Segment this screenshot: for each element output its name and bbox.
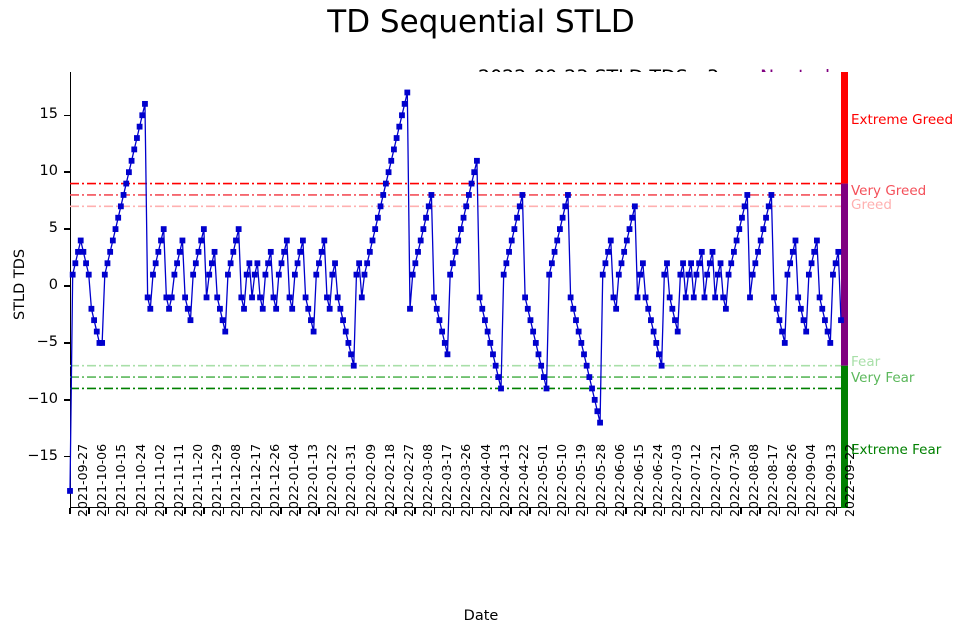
y-tick-mark bbox=[64, 285, 70, 286]
x-tick-label: 2022-05-01 bbox=[535, 444, 550, 517]
x-tick-mark bbox=[165, 508, 166, 514]
zone-label-greed: Greed bbox=[851, 197, 892, 213]
x-tick-label: 2022-04-04 bbox=[478, 444, 493, 517]
x-tick-label: 2022-05-28 bbox=[593, 444, 608, 517]
x-tick-mark bbox=[434, 508, 435, 514]
x-tick-label: 2022-01-31 bbox=[343, 444, 358, 517]
x-tick-label: 2022-01-13 bbox=[305, 444, 320, 517]
x-tick-mark bbox=[549, 508, 550, 514]
x-tick-label: 2021-11-29 bbox=[209, 444, 224, 517]
x-tick-label: 2021-12-08 bbox=[228, 444, 243, 517]
y-tick-label: −15 bbox=[12, 448, 58, 464]
x-tick-mark bbox=[280, 508, 281, 514]
x-tick-mark bbox=[664, 508, 665, 514]
y-tick-label: 0 bbox=[12, 277, 58, 293]
x-tick-label: 2022-06-15 bbox=[631, 444, 646, 517]
x-tick-label: 2022-05-10 bbox=[554, 444, 569, 517]
x-tick-label: 2021-10-24 bbox=[133, 444, 148, 517]
x-tick-mark bbox=[108, 508, 109, 514]
x-tick-mark bbox=[721, 508, 722, 514]
x-tick-label: 2022-02-27 bbox=[401, 444, 416, 517]
x-tick-mark bbox=[395, 508, 396, 514]
y-tick-label: −10 bbox=[12, 391, 58, 407]
x-tick-label: 2022-09-13 bbox=[823, 444, 838, 517]
x-tick-mark bbox=[510, 508, 511, 514]
x-tick-label: 2022-02-18 bbox=[382, 444, 397, 517]
zone-label-fear: Fear bbox=[851, 354, 880, 370]
x-tick-mark bbox=[223, 508, 224, 514]
x-tick-label: 2022-07-21 bbox=[708, 444, 723, 517]
chart-title: TD Sequential STLD bbox=[0, 4, 962, 40]
x-tick-label: 2022-07-30 bbox=[727, 444, 742, 517]
x-tick-mark bbox=[625, 508, 626, 514]
y-tick-mark bbox=[64, 171, 70, 172]
y-tick-mark bbox=[64, 456, 70, 457]
x-tick-mark bbox=[376, 508, 377, 514]
x-tick-mark bbox=[203, 508, 204, 514]
x-tick-label: 2022-02-09 bbox=[363, 444, 378, 517]
x-tick-mark bbox=[798, 508, 799, 514]
x-tick-label: 2022-03-08 bbox=[420, 444, 435, 517]
x-tick-mark bbox=[88, 508, 89, 514]
x-tick-mark bbox=[299, 508, 300, 514]
x-tick-label: 2021-11-20 bbox=[190, 444, 205, 517]
x-tick-mark bbox=[184, 508, 185, 514]
x-tick-mark bbox=[146, 508, 147, 514]
x-tick-mark bbox=[587, 508, 588, 514]
x-tick-label: 2021-11-02 bbox=[152, 444, 167, 517]
x-tick-label: 2021-10-15 bbox=[113, 444, 128, 517]
x-axis-title: Date bbox=[0, 608, 962, 624]
x-tick-label: 2021-11-11 bbox=[171, 444, 186, 517]
x-tick-mark bbox=[242, 508, 243, 514]
x-tick-label: 2022-05-19 bbox=[573, 444, 588, 517]
zone-label-very-fear: Very Fear bbox=[851, 370, 914, 386]
x-tick-label: 2021-10-06 bbox=[94, 444, 109, 517]
x-tick-label: 2021-09-27 bbox=[75, 444, 90, 517]
plot-area bbox=[70, 72, 841, 508]
x-tick-label: 2022-04-13 bbox=[497, 444, 512, 517]
x-tick-label: 2022-08-26 bbox=[784, 444, 799, 517]
x-tick-label: 2022-08-17 bbox=[765, 444, 780, 517]
x-tick-mark bbox=[357, 508, 358, 514]
y-tick-mark bbox=[64, 228, 70, 229]
x-tick-label: 2022-07-03 bbox=[669, 444, 684, 517]
x-tick-mark bbox=[779, 508, 780, 514]
x-tick-mark bbox=[261, 508, 262, 514]
chart-root: TD Sequential STLD 2022-09-23 STLD TDS: … bbox=[0, 0, 962, 633]
x-tick-mark bbox=[702, 508, 703, 514]
x-tick-mark bbox=[453, 508, 454, 514]
x-tick-label: 2022-03-17 bbox=[439, 444, 454, 517]
x-tick-mark bbox=[817, 508, 818, 514]
x-tick-label: 2022-04-22 bbox=[516, 444, 531, 517]
y-tick-label: 15 bbox=[12, 106, 58, 122]
x-tick-label: 2022-07-12 bbox=[688, 444, 703, 517]
y-tick-label: 5 bbox=[12, 220, 58, 236]
x-tick-label: 2022-09-04 bbox=[803, 444, 818, 517]
x-tick-label: 2022-01-22 bbox=[324, 444, 339, 517]
x-tick-label: 2022-06-06 bbox=[612, 444, 627, 517]
x-tick-label: 2021-12-26 bbox=[267, 444, 282, 517]
x-tick-mark bbox=[318, 508, 319, 514]
x-tick-mark bbox=[491, 508, 492, 514]
x-tick-mark bbox=[740, 508, 741, 514]
zone-bar-extreme-greed bbox=[841, 72, 848, 184]
x-tick-mark bbox=[529, 508, 530, 514]
x-tick-label: 2021-12-17 bbox=[248, 444, 263, 517]
x-tick-mark bbox=[69, 508, 70, 514]
zone-bar-neutral bbox=[841, 184, 848, 366]
x-tick-mark bbox=[414, 508, 415, 514]
x-tick-label: 2022-06-24 bbox=[650, 444, 665, 517]
x-tick-mark bbox=[683, 508, 684, 514]
x-tick-mark bbox=[759, 508, 760, 514]
x-tick-mark bbox=[338, 508, 339, 514]
x-tick-mark bbox=[568, 508, 569, 514]
y-tick-mark bbox=[64, 399, 70, 400]
x-tick-mark bbox=[127, 508, 128, 514]
x-tick-label: 2022-03-26 bbox=[458, 444, 473, 517]
y-tick-label: 10 bbox=[12, 163, 58, 179]
zone-label-very-greed: Very Greed bbox=[851, 183, 926, 199]
x-tick-mark bbox=[836, 508, 837, 514]
zone-label-extreme-fear: Extreme Fear bbox=[851, 442, 941, 458]
zone-label-extreme-greed: Extreme Greed bbox=[851, 112, 953, 128]
x-tick-mark bbox=[606, 508, 607, 514]
x-tick-mark bbox=[644, 508, 645, 514]
y-tick-label: −5 bbox=[12, 334, 58, 350]
x-tick-label: 2022-08-08 bbox=[746, 444, 761, 517]
x-tick-label: 2022-01-04 bbox=[286, 444, 301, 517]
x-tick-mark bbox=[472, 508, 473, 514]
y-tick-mark bbox=[64, 115, 70, 116]
y-tick-mark bbox=[64, 342, 70, 343]
